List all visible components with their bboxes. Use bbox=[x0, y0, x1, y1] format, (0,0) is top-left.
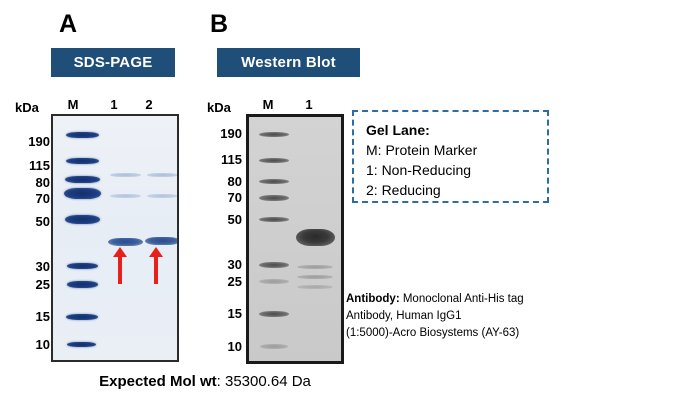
panel-a-gel-inner bbox=[53, 116, 177, 360]
marker-band-80 bbox=[65, 176, 100, 183]
antibody-note-line-2: Antibody, Human IgG1 bbox=[346, 308, 598, 325]
panel-a-title-banner: SDS-PAGE bbox=[51, 48, 175, 77]
antibody-line-1-rest: Monoclonal Anti-His tag bbox=[400, 293, 524, 305]
lane1-target-band bbox=[108, 238, 143, 246]
ladder-label: 10 bbox=[36, 338, 50, 351]
wb-marker-band-80 bbox=[259, 179, 289, 184]
panel-b-title-banner: Western Blot bbox=[217, 48, 360, 77]
antibody-note: Antibody: Monoclonal Anti-His tag Antibo… bbox=[346, 291, 598, 342]
wb-lane1-faint-band-2 bbox=[297, 275, 333, 279]
ladder-label: 30 bbox=[228, 258, 242, 271]
panel-a-kda-header: kDa bbox=[15, 101, 39, 114]
panel-b-ladder-axis: 190 115 80 70 50 30 25 15 10 bbox=[206, 114, 242, 358]
caption-value: : 35300.64 Da bbox=[217, 373, 311, 390]
antibody-label: Antibody: bbox=[346, 293, 400, 305]
antibody-note-line-3: (1:5000)-Acro Biosystems (AY-63) bbox=[346, 325, 598, 342]
caption-label: Expected Mol wt bbox=[99, 373, 217, 390]
lane2-faint-band-mid bbox=[147, 194, 178, 198]
marker-band-30 bbox=[67, 263, 98, 269]
wb-marker-band-10 bbox=[260, 344, 288, 349]
wb-marker-band-190 bbox=[259, 132, 289, 137]
wb-marker-band-70 bbox=[259, 195, 289, 201]
ladder-label: 115 bbox=[29, 159, 50, 172]
panel-a-lane-header-2: 2 bbox=[139, 98, 159, 111]
ladder-label: 15 bbox=[36, 310, 50, 323]
panel-a-ladder-axis: 190 115 80 70 50 30 25 15 10 bbox=[14, 114, 50, 358]
wb-marker-band-25 bbox=[259, 279, 289, 284]
marker-band-25 bbox=[67, 281, 98, 288]
wb-marker-band-30 bbox=[259, 262, 289, 268]
wb-marker-band-115 bbox=[259, 158, 289, 163]
wb-lane1-faint-band-3 bbox=[297, 285, 333, 289]
marker-band-50 bbox=[65, 215, 100, 224]
expected-mol-wt-caption: Expected Mol wt: 35300.64 Da bbox=[0, 372, 410, 392]
legend-item-reducing: 2: Reducing bbox=[366, 180, 547, 200]
panel-b-lane-header-m: M bbox=[258, 98, 278, 111]
lane2-target-band bbox=[145, 237, 179, 245]
panel-b-gel-inner bbox=[249, 117, 341, 361]
panel-a-lane-header-1: 1 bbox=[104, 98, 124, 111]
marker-band-15 bbox=[66, 314, 98, 320]
ladder-label: 70 bbox=[36, 192, 50, 205]
panel-b-lane-header-1: 1 bbox=[299, 98, 319, 111]
ladder-label: 70 bbox=[228, 191, 242, 204]
panel-a-letter: A bbox=[59, 12, 77, 37]
ladder-label: 190 bbox=[220, 127, 242, 140]
lane1-faint-band-upper bbox=[110, 173, 141, 177]
gel-lane-legend: Gel Lane: M: Protein Marker 1: Non-Reduc… bbox=[352, 110, 549, 203]
ladder-label: 80 bbox=[36, 176, 50, 189]
lane2-target-arrow-icon bbox=[149, 247, 163, 287]
ladder-label: 50 bbox=[36, 215, 50, 228]
panel-b-kda-header: kDa bbox=[207, 101, 231, 114]
ladder-label: 30 bbox=[36, 260, 50, 273]
legend-title: Gel Lane: bbox=[366, 120, 547, 140]
figure-root: A SDS-PAGE kDa 190 115 80 70 50 30 25 15… bbox=[0, 0, 681, 414]
legend-item-non-reducing: 1: Non-Reducing bbox=[366, 160, 547, 180]
ladder-label: 25 bbox=[36, 278, 50, 291]
panel-b-gel-image bbox=[246, 114, 344, 364]
panel-a-lane-header-m: M bbox=[63, 98, 83, 111]
ladder-label: 50 bbox=[228, 213, 242, 226]
wb-lane1-faint-band-1 bbox=[297, 265, 333, 269]
ladder-label: 15 bbox=[228, 307, 242, 320]
ladder-label: 190 bbox=[28, 135, 50, 148]
panel-b-letter: B bbox=[210, 12, 228, 37]
lane2-faint-band-upper bbox=[147, 173, 178, 177]
lane1-target-arrow-icon bbox=[113, 247, 127, 287]
ladder-label: 10 bbox=[228, 340, 242, 353]
ladder-label: 115 bbox=[221, 153, 242, 166]
ladder-label: 80 bbox=[228, 175, 242, 188]
marker-band-10 bbox=[67, 342, 96, 347]
antibody-note-line-1: Antibody: Monoclonal Anti-His tag bbox=[346, 291, 598, 308]
panel-a-gel-image bbox=[51, 114, 179, 362]
marker-band-115 bbox=[66, 158, 99, 164]
wb-marker-band-50 bbox=[259, 217, 289, 222]
wb-lane1-target-band bbox=[296, 229, 335, 246]
ladder-label: 25 bbox=[228, 275, 242, 288]
marker-band-70 bbox=[64, 188, 101, 199]
lane1-faint-band-mid bbox=[110, 194, 141, 198]
wb-marker-band-15 bbox=[259, 311, 289, 317]
marker-band-190 bbox=[66, 132, 99, 138]
legend-item-marker: M: Protein Marker bbox=[366, 140, 547, 160]
